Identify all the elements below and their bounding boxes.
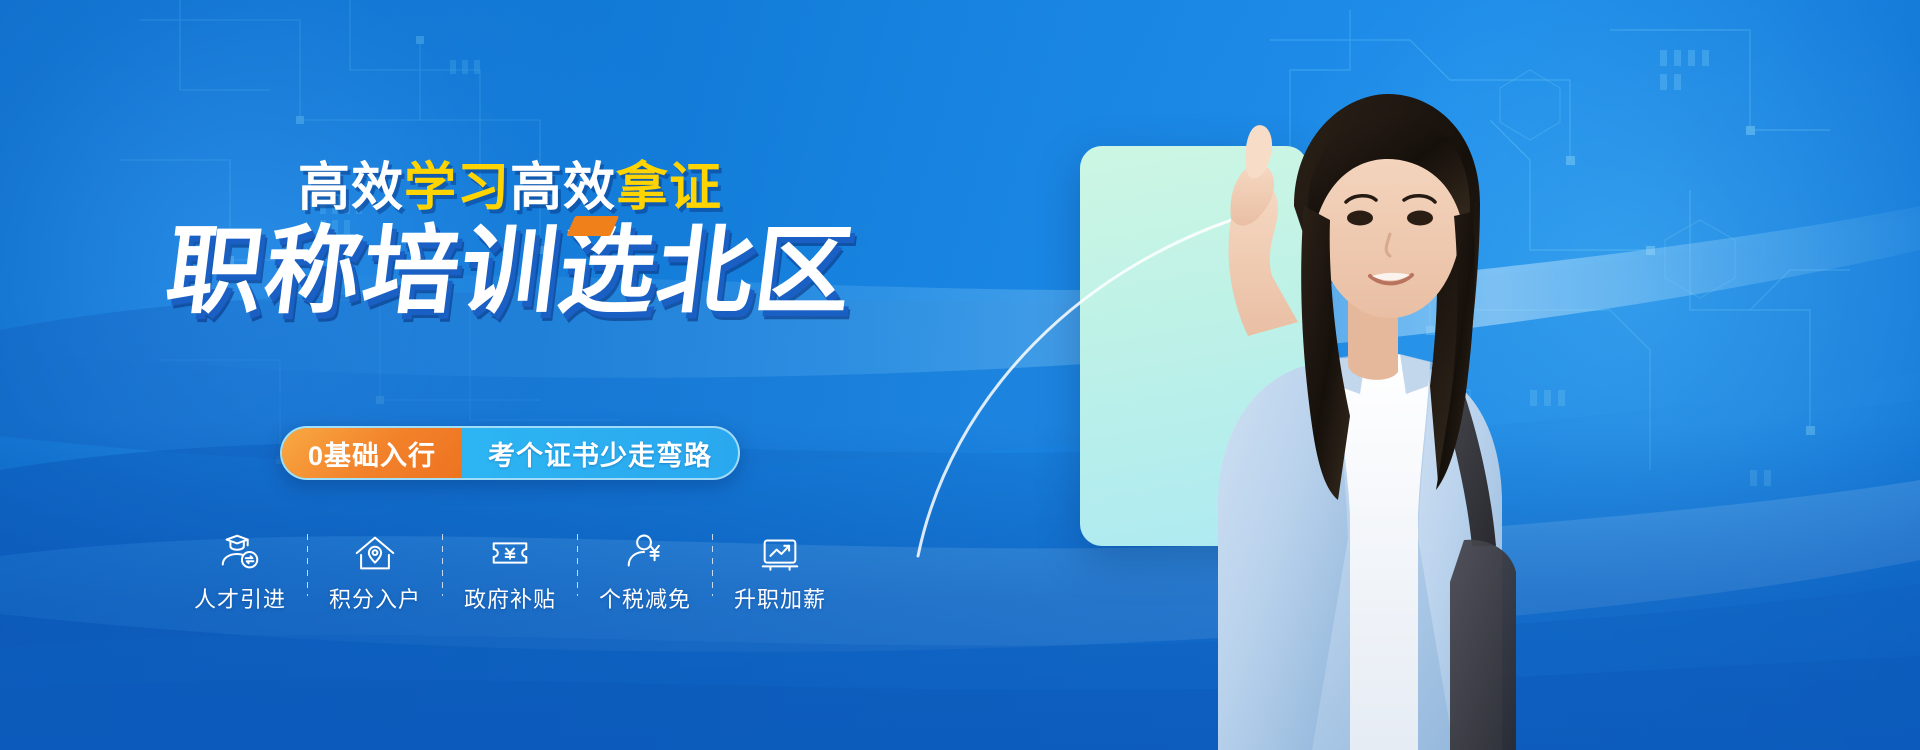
headline-accent-char: 选	[553, 220, 664, 324]
headline-part-1: 职称培训	[160, 218, 565, 325]
feature-item-subsidy[interactable]: 政府补贴	[443, 530, 577, 612]
feature-label: 积分入户	[329, 588, 421, 612]
feature-item-residency[interactable]: 积分入户	[308, 530, 442, 612]
promo-banner: 高效学习高效拿证 职称培训选北区 0基础入行 考个证书少走弯路	[0, 0, 1920, 750]
presenter-photo	[1098, 86, 1518, 750]
hero-visual	[1020, 0, 1920, 750]
chart-growth-icon	[757, 530, 803, 576]
kicker-segment-1: 高效	[298, 159, 404, 217]
coupon-yuan-icon	[487, 530, 533, 576]
person-yuan-icon	[622, 530, 668, 576]
badge-left-label: 0基础入行	[282, 428, 462, 478]
kicker-segment-3: 高效	[510, 159, 616, 217]
feature-label: 人才引进	[194, 588, 286, 612]
kicker-line: 高效学习高效拿证	[0, 158, 1020, 218]
headline-part-2: 北区	[650, 218, 859, 325]
feature-label: 政府补贴	[464, 588, 556, 612]
feature-label: 升职加薪	[734, 588, 826, 612]
graduate-exchange-icon	[217, 530, 263, 576]
feature-item-promotion[interactable]: 升职加薪	[713, 530, 847, 612]
feature-item-tax[interactable]: 个税减免	[578, 530, 712, 612]
feature-item-talent[interactable]: 人才引进	[173, 530, 307, 612]
house-pin-icon	[352, 530, 398, 576]
headline: 职称培训选北区	[0, 220, 1026, 324]
feature-label: 个税减免	[599, 588, 691, 612]
copy-block: 高效学习高效拿证 职称培训选北区 0基础入行 考个证书少走弯路	[0, 0, 1020, 750]
kicker-segment-2: 学习	[404, 159, 510, 217]
badge-right-label: 考个证书少走弯路	[462, 428, 738, 478]
promo-badge[interactable]: 0基础入行 考个证书少走弯路	[280, 426, 740, 480]
kicker-segment-4: 拿证	[616, 159, 722, 217]
feature-list: 人才引进 积分入户	[173, 530, 847, 612]
